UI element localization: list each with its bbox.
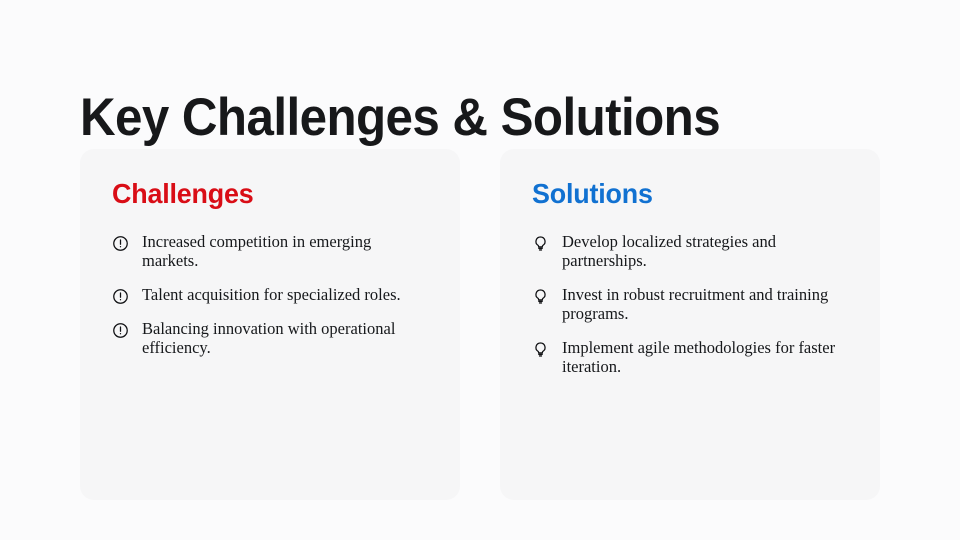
list-item-label: Increased competition in emerging market… [142, 232, 428, 271]
lightbulb-icon [532, 288, 549, 305]
list-item: Talent acquisition for specialized roles… [112, 285, 430, 305]
exclamation-circle-icon [112, 235, 129, 252]
cards-container: Challenges Increased competition in emer… [80, 149, 880, 500]
list-item-label: Talent acquisition for specialized roles… [142, 285, 401, 305]
page-title: Key Challenges & Solutions [80, 88, 720, 147]
challenges-list: Increased competition in emerging market… [112, 232, 430, 358]
list-item: Increased competition in emerging market… [112, 232, 430, 271]
list-item-label: Implement agile methodologies for faster… [562, 338, 848, 377]
list-item-label: Invest in robust recruitment and trainin… [562, 285, 848, 324]
challenges-card: Challenges Increased competition in emer… [80, 149, 460, 500]
challenges-heading: Challenges [112, 179, 417, 210]
solutions-list: Develop localized strategies and partner… [532, 232, 850, 377]
exclamation-circle-icon [112, 288, 129, 305]
solutions-card: Solutions Develop localized strategies a… [500, 149, 880, 500]
slide: Key Challenges & Solutions Challenges In… [0, 0, 960, 540]
list-item: Implement agile methodologies for faster… [532, 338, 850, 377]
list-item-label: Balancing innovation with operational ef… [142, 319, 428, 358]
list-item-label: Develop localized strategies and partner… [562, 232, 848, 271]
lightbulb-icon [532, 235, 549, 252]
list-item: Balancing innovation with operational ef… [112, 319, 430, 358]
exclamation-circle-icon [112, 322, 129, 339]
solutions-heading: Solutions [532, 179, 837, 210]
list-item: Develop localized strategies and partner… [532, 232, 850, 271]
lightbulb-icon [532, 341, 549, 358]
list-item: Invest in robust recruitment and trainin… [532, 285, 850, 324]
